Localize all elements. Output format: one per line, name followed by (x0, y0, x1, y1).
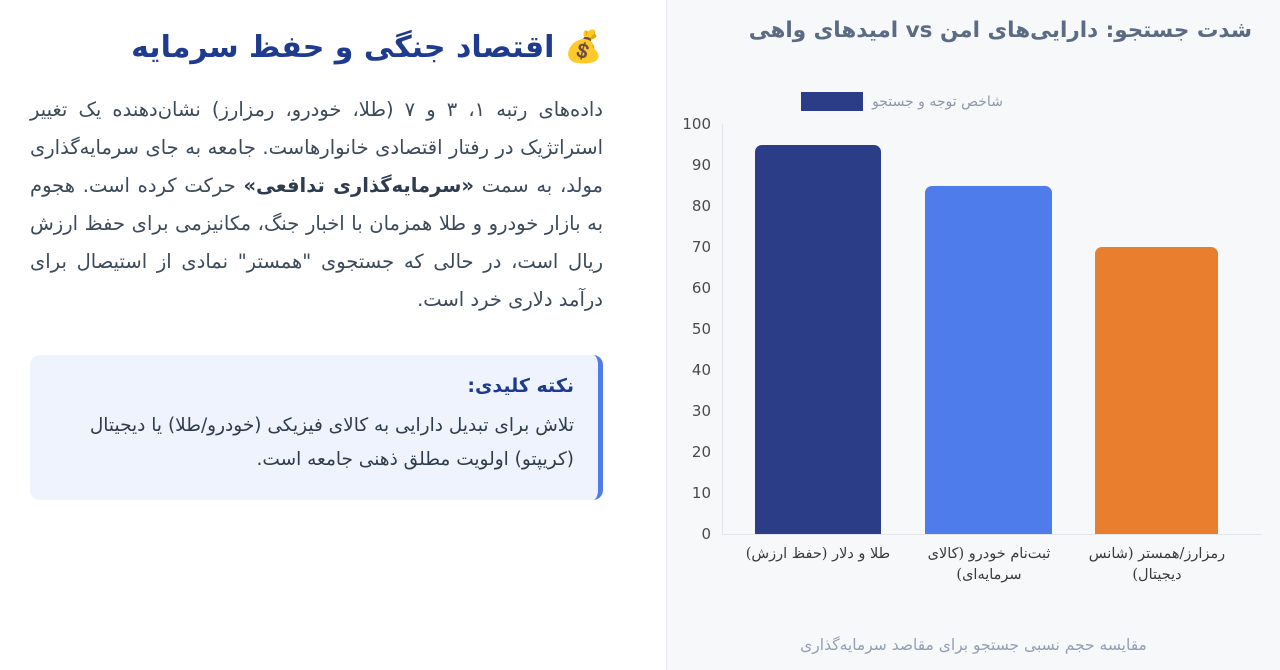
x-label-car-registration: ثبت‌نام خودرو (کالای سرمایه‌ای) (918, 544, 1060, 586)
x-axis-line (722, 534, 1262, 535)
chart-caption: مقایسه حجم نسبی جستجو برای مقاصد سرمایه‌… (695, 636, 1252, 654)
y-tick-100: 100 (669, 115, 711, 133)
search-intensity-chart-panel: شدت جستجو: دارایی‌های امن vs امیدهای واه… (667, 0, 1280, 670)
bar-crypto-hamster[interactable] (1095, 247, 1218, 534)
y-tick-90: 90 (669, 156, 711, 174)
y-tick-50: 50 (669, 320, 711, 338)
analysis-text-panel: 💰 اقتصاد جنگی و حفظ سرمایه داده‌های رتبه… (0, 0, 625, 670)
y-tick-20: 20 (669, 443, 711, 461)
chart-title: شدت جستجو: دارایی‌های امن vs امیدهای واه… (695, 16, 1252, 45)
bar-series (722, 120, 1262, 534)
bar-gold-dollar[interactable] (755, 145, 881, 535)
legend-item-label: شاخص توجه و جستجو (872, 94, 1003, 110)
callout-body: تلاش برای تبدیل دارایی به کالای فیزیکی (… (54, 409, 574, 477)
chart-legend[interactable]: شاخص توجه و جستجو (667, 92, 1137, 111)
key-point-callout: نکته کلیدی: تلاش برای تبدیل دارایی به کا… (30, 355, 603, 499)
y-tick-40: 40 (669, 361, 711, 379)
y-tick-10: 10 (669, 484, 711, 502)
x-label-crypto-hamster: رمزارز/همستر (شانس دیجیتال) (1078, 544, 1236, 586)
paragraph-emphasis: «سرمایه‌گذاری تدافعی» (243, 174, 474, 197)
money-bag-icon: 💰 (564, 32, 603, 63)
analysis-paragraph: داده‌های رتبه ۱، ۳ و ۷ (طلا، خودرو، رمزا… (30, 91, 603, 319)
chart-plot-area: 100 90 80 70 60 50 40 30 20 10 0 طلا و د (667, 120, 1280, 540)
y-tick-0: 0 (669, 525, 711, 543)
dashboard-root: 💰 اقتصاد جنگی و حفظ سرمایه داده‌های رتبه… (0, 0, 1280, 670)
panel-heading: 💰 اقتصاد جنگی و حفظ سرمایه (30, 30, 603, 65)
y-tick-70: 70 (669, 238, 711, 256)
y-tick-30: 30 (669, 402, 711, 420)
x-axis-labels: طلا و دلار (حفظ ارزش) ثبت‌نام خودرو (کال… (722, 544, 1262, 634)
y-tick-80: 80 (669, 197, 711, 215)
x-label-gold-dollar: طلا و دلار (حفظ ارزش) (740, 544, 896, 565)
legend-color-swatch (801, 92, 863, 111)
panel-divider (625, 0, 667, 670)
page-title: اقتصاد جنگی و حفظ سرمایه (131, 30, 554, 65)
callout-title: نکته کلیدی: (54, 375, 574, 397)
bar-car-registration[interactable] (925, 186, 1052, 535)
y-tick-60: 60 (669, 279, 711, 297)
y-axis: 100 90 80 70 60 50 40 30 20 10 0 (667, 120, 715, 535)
